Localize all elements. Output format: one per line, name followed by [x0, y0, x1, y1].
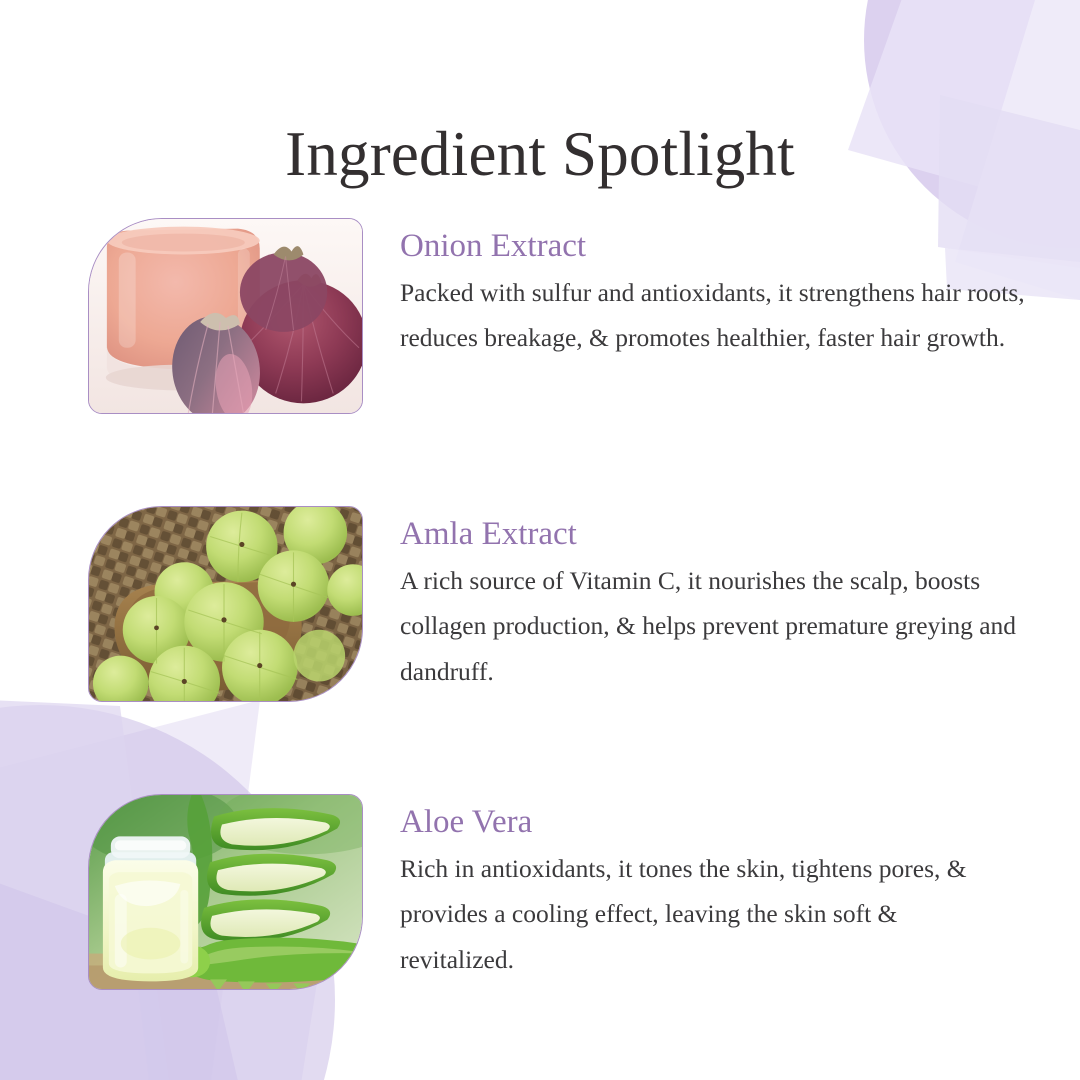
ingredient-list: Onion Extract Packed with sulfur and ant… [0, 218, 1080, 994]
list-item: Onion Extract Packed with sulfur and ant… [0, 218, 1080, 418]
list-item: Amla Extract A rich source of Vitamin C,… [0, 506, 1080, 706]
ingredient-spotlight-poster: Ingredient Spotlight [0, 0, 1080, 1080]
ingredient-name: Aloe Vera [400, 804, 1056, 842]
ingredient-description: Packed with sulfur and antioxidants, it … [400, 270, 1056, 361]
ingredient-copy: Onion Extract Packed with sulfur and ant… [400, 218, 1080, 361]
ingredient-description: Rich in antioxidants, it tones the skin,… [400, 846, 1000, 982]
onion-extract-photo [88, 218, 363, 414]
ingredient-name: Onion Extract [400, 228, 1056, 266]
ingredient-description: A rich source of Vitamin C, it nourishes… [400, 558, 1056, 694]
list-item: Aloe Vera Rich in antioxidants, it tones… [0, 794, 1080, 994]
amla-extract-photo [88, 506, 363, 702]
ingredient-name: Amla Extract [400, 516, 1056, 554]
aloe-vera-photo [88, 794, 363, 990]
page-title: Ingredient Spotlight [0, 118, 1080, 190]
ingredient-copy: Amla Extract A rich source of Vitamin C,… [400, 506, 1080, 694]
ingredient-copy: Aloe Vera Rich in antioxidants, it tones… [400, 794, 1080, 982]
